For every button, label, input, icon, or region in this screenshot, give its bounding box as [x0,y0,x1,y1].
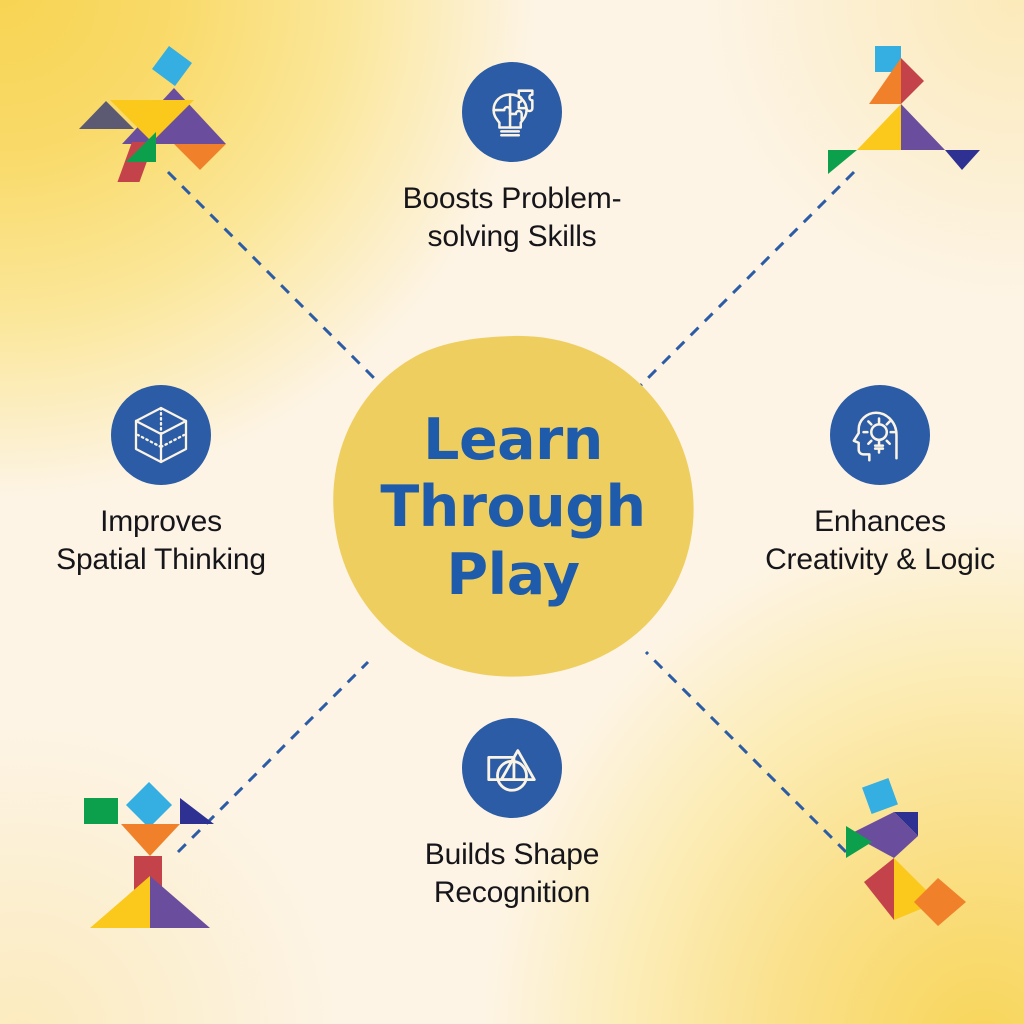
node-creativity-logic[interactable]: Enhances Creativity & Logic [736,385,1024,578]
node-problem-solving[interactable]: Boosts Problem- solving Skills [362,62,662,255]
tangram-person-shape [76,772,228,928]
geometric-shapes-icon [481,737,543,799]
tangram-figure-bird [74,38,226,182]
tangram-figure-cat [838,772,992,930]
wireframe-cube-icon [129,403,193,467]
tangram-runner-shape [828,38,984,182]
center-title-line-2: Through [380,474,645,541]
center-blob: Learn Through Play [330,332,696,684]
wireframe-cube-icon-circle[interactable] [111,385,211,485]
center-title: Learn Through Play [330,332,696,684]
tangram-cat-shape [838,772,992,930]
node-creativity-logic-label: Enhances Creativity & Logic [765,503,995,578]
tangram-bird-shape [74,38,226,182]
node-shape-recognition-label: Builds Shape Recognition [425,836,599,911]
tangram-figure-runner [828,38,984,182]
lightbulb-puzzle-icon-circle[interactable] [462,62,562,162]
head-lightbulb-icon [849,404,911,466]
infographic-canvas: Learn Through Play Boosts Problem- solvi… [0,0,1024,1024]
tangram-figure-person [76,772,228,928]
node-shape-recognition[interactable]: Builds Shape Recognition [372,718,652,911]
node-spatial-thinking[interactable]: Improves Spatial Thinking [0,385,322,578]
center-title-line-1: Learn [423,407,603,474]
head-lightbulb-icon-circle[interactable] [830,385,930,485]
node-spatial-thinking-label: Improves Spatial Thinking [56,503,266,578]
center-title-line-3: Play [446,542,579,609]
geometric-shapes-icon-circle[interactable] [462,718,562,818]
node-problem-solving-label: Boosts Problem- solving Skills [403,180,622,255]
lightbulb-puzzle-icon [481,81,543,143]
